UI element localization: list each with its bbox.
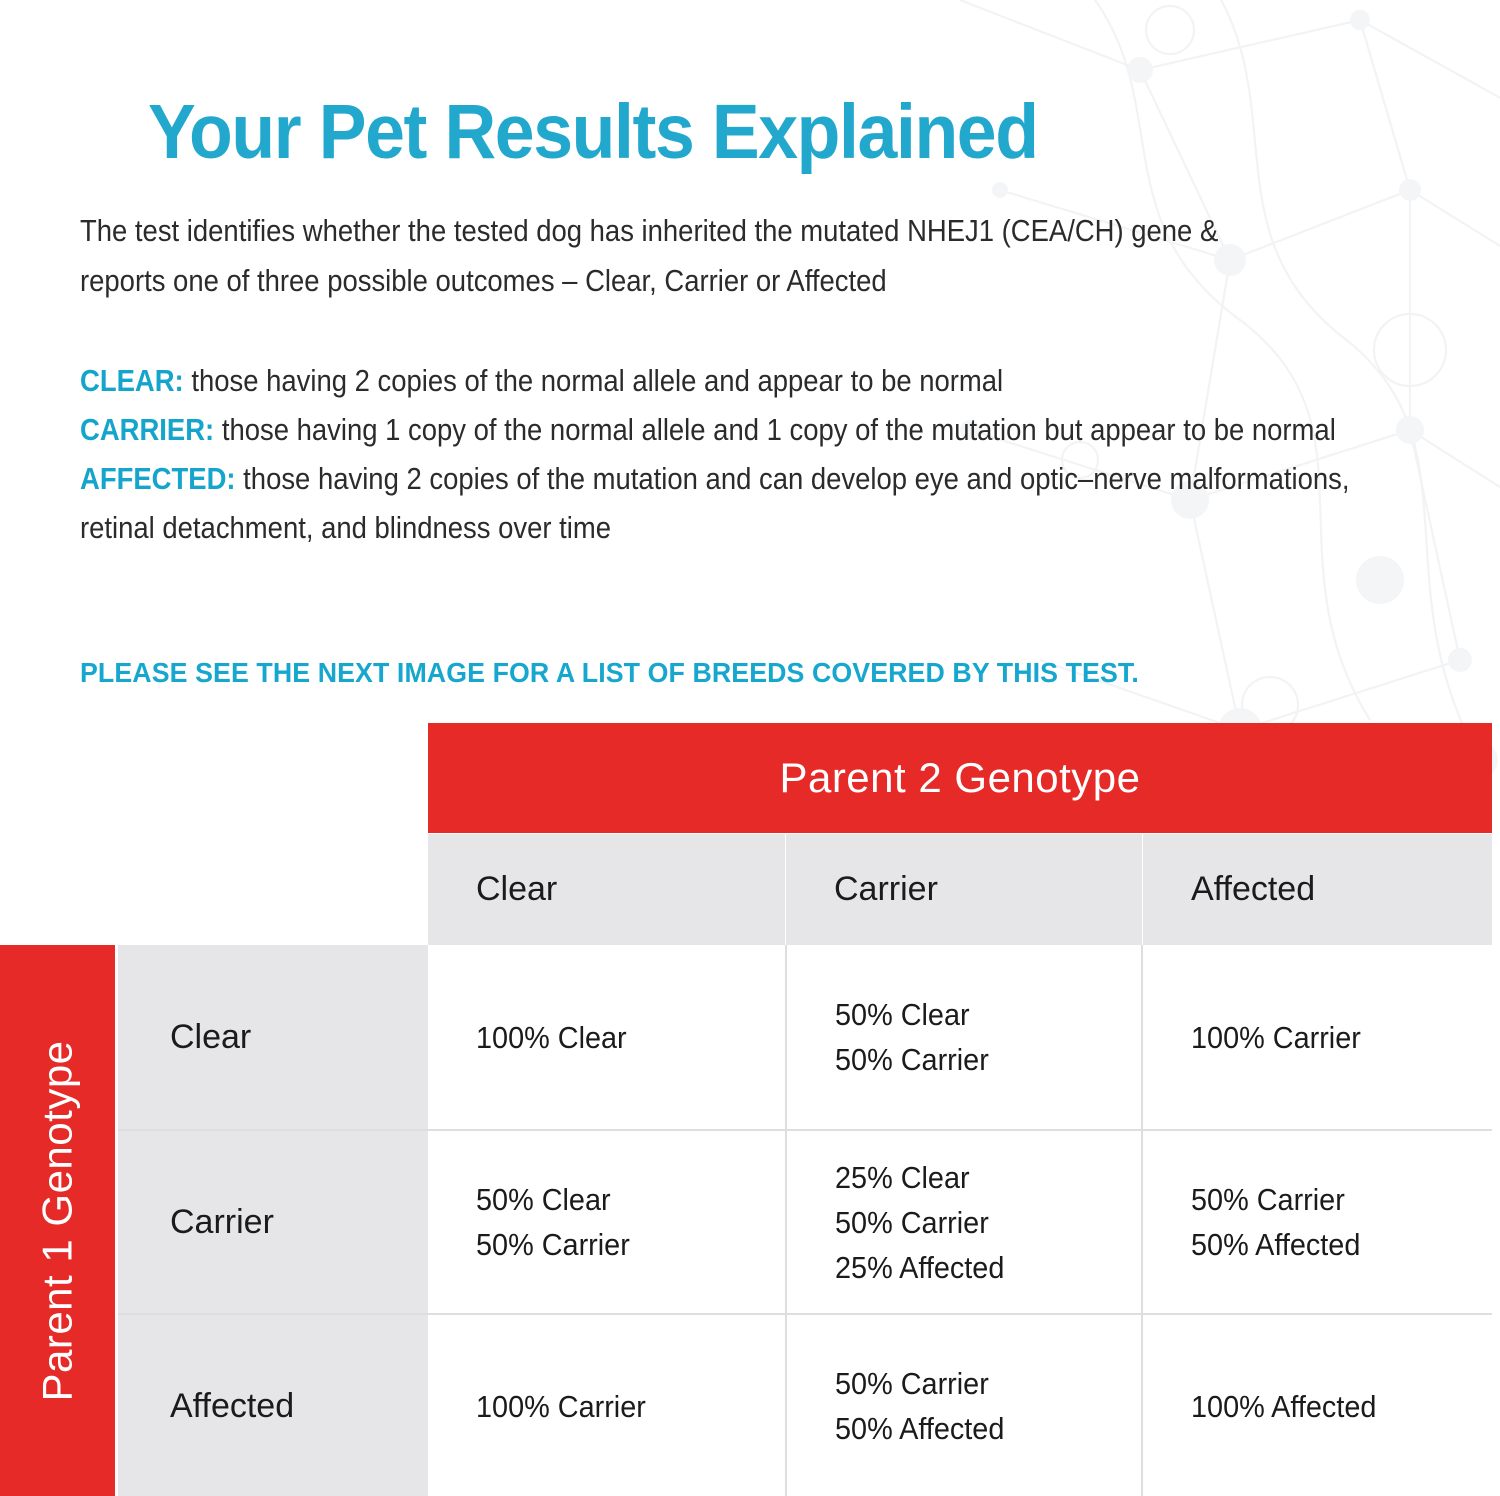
parent1-axis-banner: Parent 1 Genotype (0, 945, 115, 1496)
parent1-axis-title: Parent 1 Genotype (37, 1040, 79, 1401)
row-header-clear: Clear (118, 945, 428, 1129)
cell-line: 50% Clear (476, 1177, 763, 1222)
cell-line: 100% Carrier (476, 1384, 763, 1429)
cell-line: 50% Clear (835, 992, 1120, 1037)
definition-text-clear: those having 2 copies of the normal alle… (184, 364, 1003, 398)
cell-line: 50% Carrier (835, 1361, 1120, 1406)
cell-line: 50% Affected (835, 1406, 1120, 1451)
definition-text-carrier: those having 1 copy of the normal allele… (214, 413, 1336, 447)
cell-carrier-carrier: 25% Clear 50% Carrier 25% Affected (785, 1131, 1141, 1313)
parent2-axis-banner: Parent 2 Genotype (428, 723, 1492, 833)
next-image-callout: PLEASE SEE THE NEXT IMAGE FOR A LIST OF … (80, 655, 1139, 691)
definition-term-affected: AFFECTED: (80, 462, 236, 496)
cell-carrier-affected: 50% Carrier 50% Affected (1141, 1131, 1490, 1313)
cell-affected-clear: 100% Carrier (428, 1315, 785, 1496)
cell-line: 50% Carrier (835, 1037, 1120, 1082)
row-header-affected: Affected (118, 1315, 428, 1496)
column-header-row: Clear Carrier Affected (428, 834, 1492, 945)
cell-line: 50% Carrier (835, 1200, 1120, 1245)
page-title: Your Pet Results Explained (148, 88, 1038, 176)
cell-carrier-clear: 50% Clear 50% Carrier (428, 1131, 785, 1313)
definitions-block: CLEAR: those having 2 copies of the norm… (80, 357, 1412, 553)
row-header-carrier: Carrier (118, 1131, 428, 1313)
table-row: Carrier 50% Clear 50% Carrier 25% Clear … (118, 1129, 1492, 1313)
cell-clear-carrier: 50% Clear 50% Carrier (785, 945, 1141, 1129)
table-row: Clear 100% Clear 50% Clear 50% Carrier 1… (118, 945, 1492, 1129)
table-body: Clear 100% Clear 50% Clear 50% Carrier 1… (118, 945, 1492, 1496)
table-row: Affected 100% Carrier 50% Carrier 50% Af… (118, 1313, 1492, 1496)
genotype-outcome-table: Parent 2 Genotype Clear Carrier Affected… (0, 723, 1500, 1496)
definition-term-carrier: CARRIER: (80, 413, 214, 447)
definition-affected: AFFECTED: those having 2 copies of the m… (80, 455, 1412, 553)
cell-line: 100% Carrier (1191, 1015, 1469, 1060)
cell-affected-affected: 100% Affected (1141, 1315, 1490, 1496)
definition-text-affected: those having 2 copies of the mutation an… (80, 462, 1350, 545)
cell-line: 100% Clear (476, 1015, 763, 1060)
cell-line: 50% Carrier (476, 1222, 763, 1267)
cell-line: 50% Carrier (1191, 1177, 1469, 1222)
column-header-clear: Clear (428, 834, 785, 945)
parent2-axis-title: Parent 2 Genotype (779, 757, 1140, 799)
cell-line: 50% Affected (1191, 1222, 1469, 1267)
definition-carrier: CARRIER: those having 1 copy of the norm… (80, 406, 1412, 455)
cell-affected-carrier: 50% Carrier 50% Affected (785, 1315, 1141, 1496)
cell-line: 100% Affected (1191, 1384, 1469, 1429)
cell-line: 25% Clear (835, 1155, 1120, 1200)
column-header-carrier: Carrier (786, 834, 1142, 945)
intro-paragraph: The test identifies whether the tested d… (80, 206, 1277, 306)
definition-term-clear: CLEAR: (80, 364, 184, 398)
cell-line: 25% Affected (835, 1245, 1120, 1290)
cell-clear-clear: 100% Clear (428, 945, 785, 1129)
cell-clear-affected: 100% Carrier (1141, 945, 1490, 1129)
column-header-affected: Affected (1143, 834, 1492, 945)
definition-clear: CLEAR: those having 2 copies of the norm… (80, 357, 1412, 406)
pet-results-infographic: Your Pet Results Explained The test iden… (0, 0, 1500, 1496)
